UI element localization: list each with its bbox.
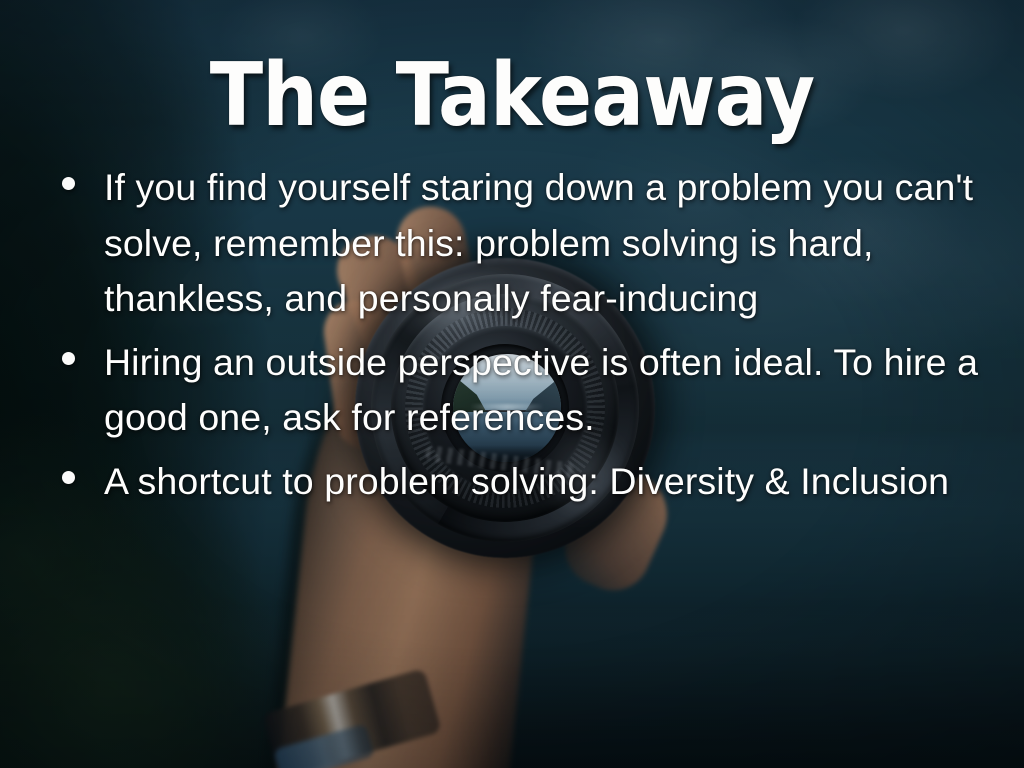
bullet-item-1: If you find yourself staring down a prob… bbox=[48, 160, 984, 327]
bullet-list: If you find yourself staring down a prob… bbox=[48, 160, 984, 517]
bullet-dot-icon-2 bbox=[48, 335, 104, 365]
presentation-slide: The Takeaway If you find yourself starin… bbox=[0, 0, 1024, 768]
bullet-dot-icon-3 bbox=[48, 454, 104, 484]
bullet-text-3: A shortcut to problem solving: Diversity… bbox=[104, 454, 984, 510]
bullet-text-2: Hiring an outside perspective is often i… bbox=[104, 335, 984, 446]
bullet-dot-icon-1 bbox=[48, 160, 104, 190]
bullet-item-3: A shortcut to problem solving: Diversity… bbox=[48, 454, 984, 510]
bullet-text-1: If you find yourself staring down a prob… bbox=[104, 160, 984, 327]
slide-title: The Takeaway bbox=[51, 52, 973, 139]
bullet-item-2: Hiring an outside perspective is often i… bbox=[48, 335, 984, 446]
slide-content: The Takeaway If you find yourself starin… bbox=[0, 0, 1024, 768]
